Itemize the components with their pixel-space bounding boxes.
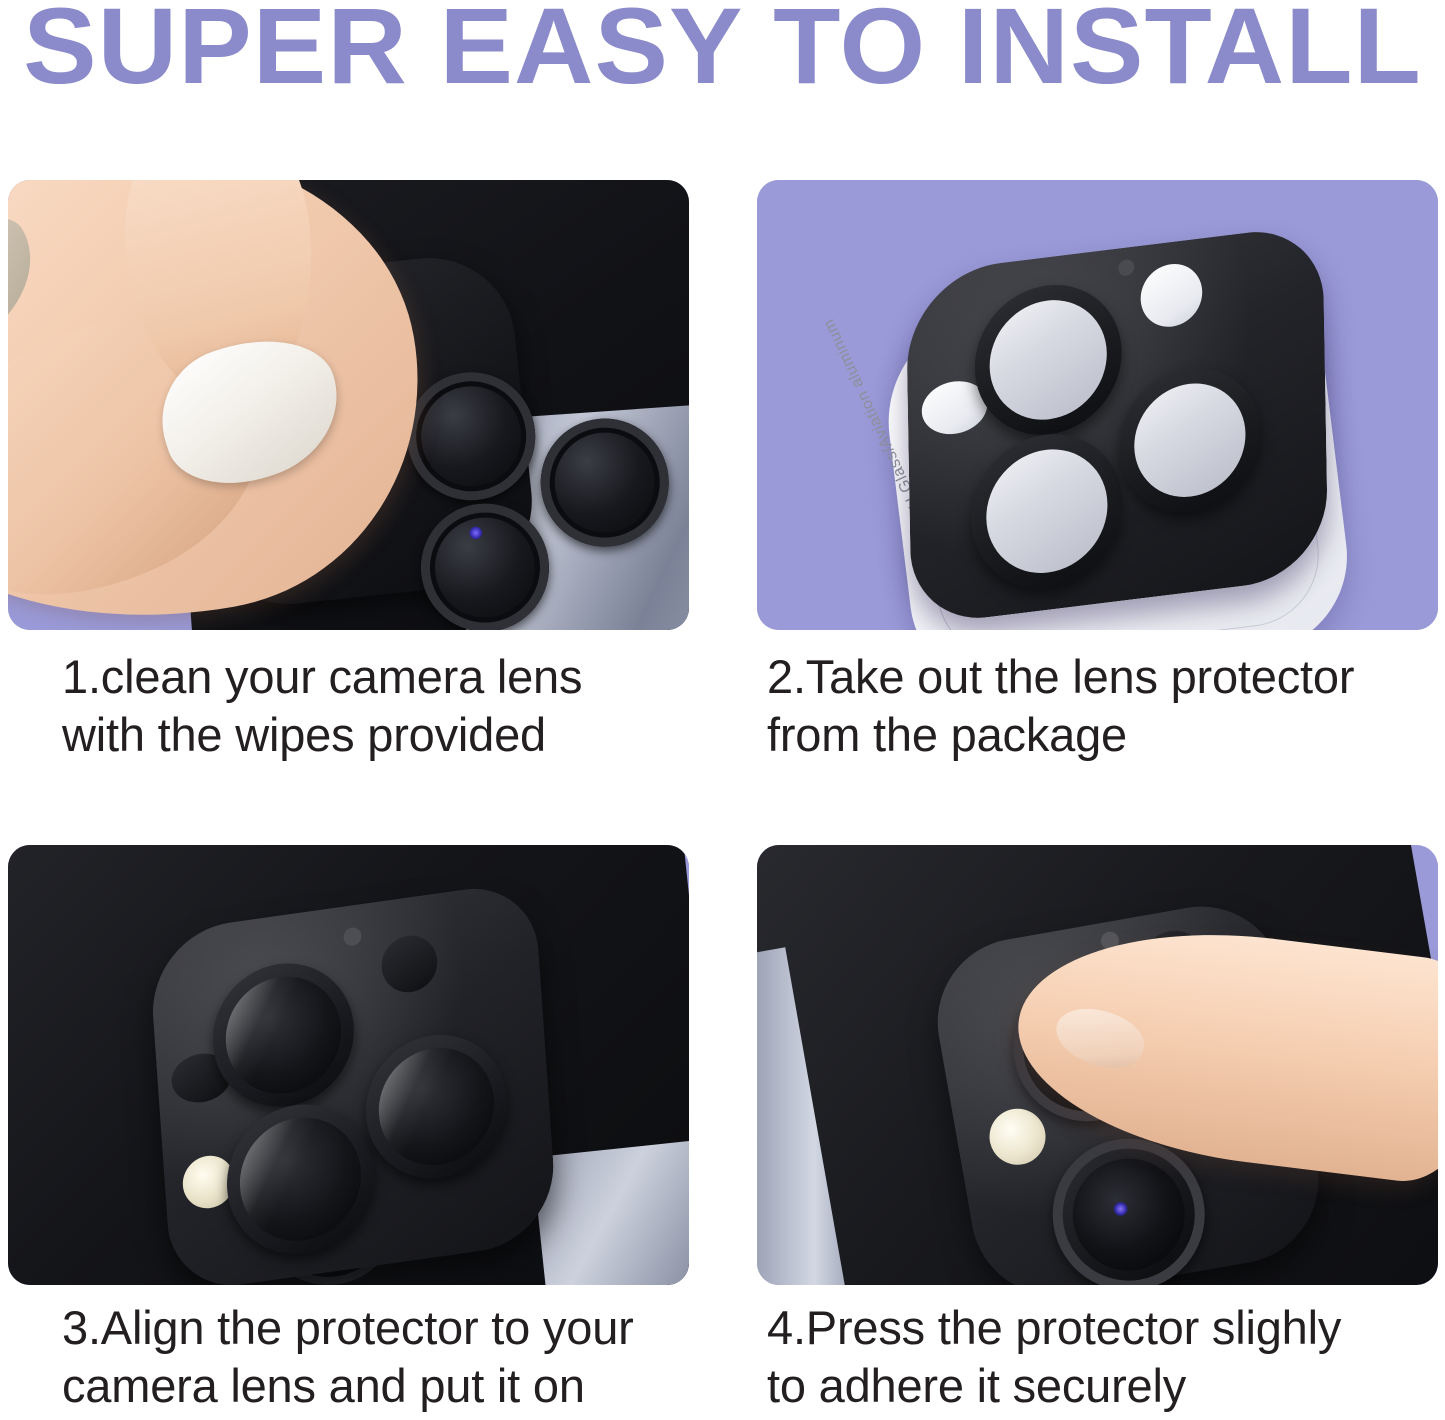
step-3-caption: 3.Align the protector to your camera len… [8, 1299, 689, 1415]
lens-protector-plate-icon [905, 223, 1328, 626]
flash-cutout-icon [380, 932, 439, 996]
lens-flare-icon [469, 526, 483, 540]
protector-ring-icon [208, 954, 359, 1116]
protector-ring-icon [970, 426, 1124, 597]
step-1-photo [8, 180, 689, 630]
step-3-photo [8, 845, 689, 1285]
flash-cutout-icon [1140, 260, 1203, 330]
protector-ring-icon [973, 276, 1122, 443]
step-4-caption: 4.Press the protector slighly to adhere … [757, 1299, 1438, 1415]
step-1: 1.clean your camera lens with the wipes … [8, 180, 689, 764]
steps-grid: 1.clean your camera lens with the wipes … [0, 0, 1445, 1420]
step-3: 3.Align the protector to your camera len… [8, 845, 689, 1415]
step-4-photo [757, 845, 1438, 1285]
infographic-page: SUPER EASY TO INSTALL [0, 0, 1445, 1420]
microphone-hole-icon [343, 926, 362, 947]
flash-led-icon [985, 1104, 1050, 1169]
step-2-caption: 2.Take out the lens protector from the p… [757, 648, 1438, 764]
lens-protector-plate-icon [147, 880, 558, 1285]
step-2-photo: 9H Glass/Aviation aluminum Protector [757, 180, 1438, 630]
step-4: 4.Press the protector slighly to adhere … [757, 845, 1438, 1415]
step-1-caption: 1.clean your camera lens with the wipes … [8, 648, 689, 764]
microphone-hole-icon [1118, 259, 1134, 277]
protector-ring-icon [222, 1095, 379, 1264]
protector-ring-icon [1118, 360, 1261, 520]
step-2: 9H Glass/Aviation aluminum Protector 2.T… [757, 180, 1438, 764]
protector-ring-icon [361, 1026, 512, 1188]
